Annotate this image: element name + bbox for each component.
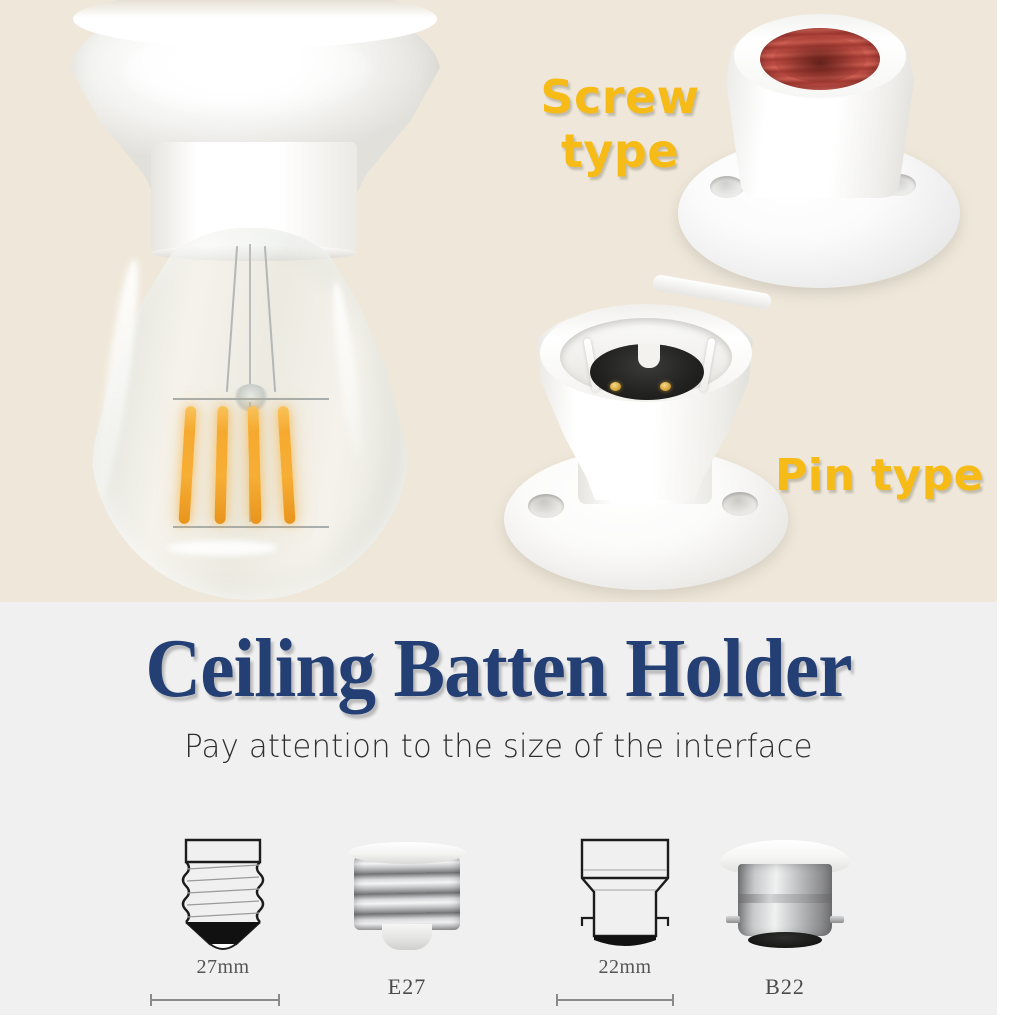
bulb-filament-bracket-bottom [173, 526, 329, 528]
base-cell-b22-photo: B22 [690, 834, 880, 1014]
product-image: Screw type Pin type Ceiling Batten Holde… [0, 0, 1024, 1024]
e27-dimension-line [150, 994, 280, 1006]
screw-type-callout: Screw type [525, 70, 715, 179]
screw-type-callout-line2: type [525, 124, 715, 178]
page-title: Ceiling Batten Holder [40, 620, 957, 717]
screw-type-callout-line1: Screw [525, 70, 715, 124]
b22-dimension-line [556, 994, 674, 1006]
b22-photo [690, 834, 880, 956]
hero-section: Screw type Pin type [0, 0, 997, 602]
e27-photo [312, 834, 502, 956]
bulb-filament-bracket-top [173, 398, 329, 400]
bulb-glass-highlight-bottom [167, 540, 277, 556]
e27-line-drawing [128, 834, 318, 956]
pin-holder-brass-pin-right [660, 382, 671, 391]
e27-photo-inner [340, 838, 474, 956]
e27-outline-svg [128, 834, 318, 956]
pin-holder-mount-hole-right [722, 492, 758, 516]
b22-metal-ring [738, 894, 832, 903]
bulb-stem [249, 244, 251, 402]
e27-dimension-label: 27mm [128, 956, 318, 979]
b22-label: B22 [690, 974, 880, 1000]
b22-photo-inner [718, 838, 852, 956]
b22-bayonet-lug-right [830, 916, 844, 923]
pin-holder-mount-hole-left [528, 494, 564, 518]
ceiling-holder-highlight [123, 26, 373, 118]
base-comparison-row: 27mm E27 [0, 834, 997, 1014]
base-cell-e27-diagram: 27mm [128, 834, 318, 1014]
screw-holder-mount-hole-left [710, 176, 744, 198]
pin-type-holder-photo [496, 300, 796, 600]
e27-white-collar [348, 842, 466, 864]
info-section: Ceiling Batten Holder Pay attention to t… [0, 602, 997, 1015]
page-subtitle: Pay attention to the size of the interfa… [20, 727, 977, 765]
b22-bayonet-lug-left [726, 916, 740, 923]
e27-tip [382, 924, 432, 950]
e27-label: E27 [312, 974, 502, 1000]
b22-contact-bottom [748, 932, 822, 948]
base-cell-e27-photo: E27 [312, 834, 502, 1014]
pin-holder-bayonet-slot [638, 344, 660, 368]
screw-holder-copper-thread [760, 28, 880, 90]
pin-holder-brass-pin-left [610, 382, 621, 391]
e27-metal-thread [354, 854, 460, 930]
ceiling-holder-with-bulb-photo [55, 0, 455, 602]
pin-type-callout: Pin type [775, 450, 984, 502]
